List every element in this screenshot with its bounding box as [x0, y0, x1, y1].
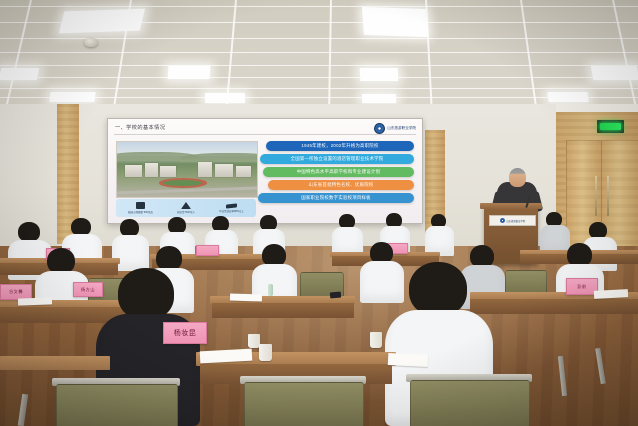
slide-band-text: 1945年建校，2002年升格为高职院校 [301, 143, 378, 149]
name-card-text: 彭前 [577, 284, 586, 290]
ceiling-rail [5, 0, 32, 109]
paper-document [388, 353, 429, 367]
school-logo-text: 山东旅游职业学院 [387, 126, 416, 130]
smoke-detector-icon [84, 38, 98, 47]
desk-front-panel [212, 303, 354, 318]
name-card [196, 245, 219, 256]
chair-foreground [52, 378, 180, 426]
ceiling-rail [520, 0, 537, 111]
exit-sign [597, 120, 624, 133]
slide-band: 全国第一所独立设置的酒店管理职业技术学院 [260, 154, 414, 164]
paper-cup [259, 344, 272, 361]
name-card-text: 杨妆昆 [174, 328, 197, 338]
slide-band: 中国特色高水平高职学校和专业建设计划 [263, 167, 414, 177]
ceiling-light [59, 9, 145, 34]
slide-band: 山东省首批特色名校、优质院校 [268, 180, 414, 190]
university-seal-icon [374, 123, 385, 134]
people-icon [181, 202, 191, 209]
lectern-plate-text: 山东旅游职业学院 [506, 219, 525, 223]
name-card-text: 谷文馨 [9, 289, 23, 295]
university-seal-icon [500, 218, 505, 223]
ceiling-rail [612, 0, 637, 110]
stat-label: 毕业生就业率98%以上 [219, 209, 244, 213]
ceiling-rail [328, 0, 331, 112]
name-card-text: 杨方山 [81, 287, 95, 293]
slide-title-rule [114, 134, 416, 135]
ceiling-light [205, 93, 245, 103]
paper-document [18, 297, 52, 305]
door-handle[interactable] [607, 176, 609, 216]
slide-band-text: 国家职业院校数字实验校项目样板 [301, 195, 371, 201]
door-handle[interactable] [595, 176, 597, 216]
ceiling-light [168, 66, 211, 79]
stat-item: 毕业生就业率98%以上 [219, 204, 244, 213]
ceiling-light [591, 66, 638, 80]
desk-front-panel [470, 299, 638, 314]
paper-document [230, 293, 262, 301]
slide-band: 1945年建校，2002年升格为高职院校 [266, 141, 414, 151]
slide-band: 国家职业院校数字实验校项目样板 [258, 193, 414, 203]
ceiling [0, 0, 638, 120]
lectern-nameplate: 山东旅游职业学院 [489, 215, 536, 226]
chair-foreground [406, 374, 532, 426]
ceiling-light [547, 92, 588, 102]
school-logo: 山东旅游职业学院 [374, 123, 416, 134]
name-card: 杨妆昆 [163, 322, 207, 344]
lecture-room-photo: 一、学校的基本情况 山东旅游职业学院 [0, 0, 638, 426]
water-bottle [268, 284, 273, 296]
slide-band-text: 山东省首批特色名校、优质院校 [309, 182, 374, 188]
chair-foreground [240, 376, 366, 426]
ceiling-light [362, 94, 396, 103]
lectern-top [480, 203, 542, 209]
speaker-head [509, 168, 526, 187]
ceiling-light [0, 68, 39, 80]
graduation-cap-icon [226, 203, 237, 208]
paper-cup [370, 332, 382, 348]
stat-item: 在校生7000余人 [177, 202, 195, 214]
ceiling-light [360, 68, 399, 81]
stat-label: 校园占地面积 500余亩 [128, 210, 153, 214]
name-card: 杨方山 [73, 282, 103, 297]
building-icon [136, 202, 145, 209]
running-man-exit-icon [600, 123, 621, 131]
projection-screen: 一、学校的基本情况 山东旅游职业学院 [107, 118, 423, 224]
campus-aerial-photo [116, 141, 258, 198]
stat-label: 在校生7000余人 [177, 210, 195, 214]
desk-foreground [0, 356, 110, 370]
slide-band-text: 中国特色高水平高职学校和专业建设计划 [297, 169, 381, 175]
slide-band-text: 全国第一所独立设置的酒店管理职业技术学院 [291, 156, 384, 162]
slide-stats-bar: 校园占地面积 500余亩 在校生7000余人 毕业生就业率98%以上 [116, 199, 256, 217]
stat-item: 校园占地面积 500余亩 [128, 202, 153, 214]
presentation-slide: 一、学校的基本情况 山东旅游职业学院 [108, 119, 422, 223]
slide-title: 一、学校的基本情况 [115, 124, 165, 131]
mobile-phone[interactable] [330, 292, 341, 299]
ceiling-light [362, 7, 428, 37]
ceiling-light [49, 92, 95, 102]
